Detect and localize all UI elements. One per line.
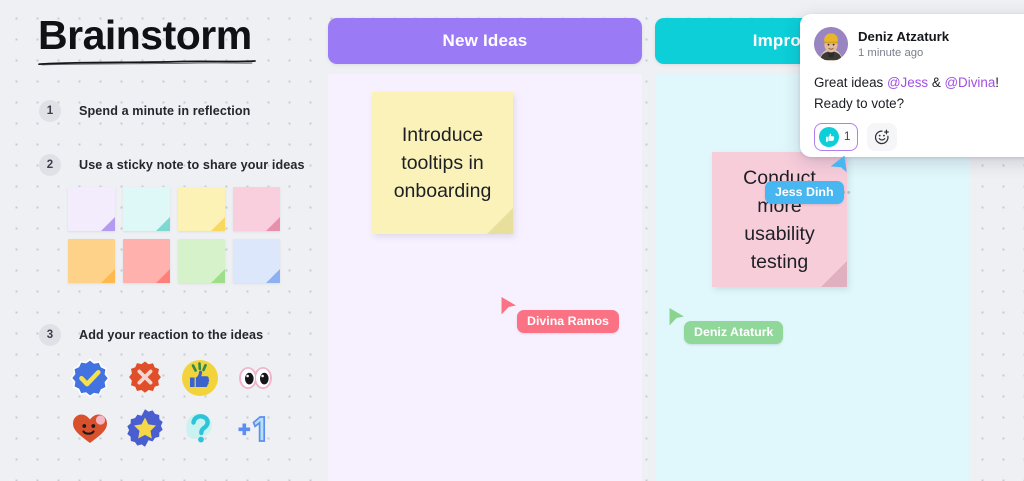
- palette-swatch-orange[interactable]: [68, 239, 123, 291]
- cursor-label: Deniz Ataturk: [684, 321, 783, 344]
- step-number: 1: [39, 100, 61, 122]
- step-label: Use a sticky note to share your ideas: [79, 158, 305, 172]
- sticky-note-text: Introduce tooltips in onboarding: [372, 121, 513, 205]
- heart-face-icon[interactable]: [68, 406, 112, 450]
- thumbs-up-icon[interactable]: [178, 356, 222, 400]
- mention-divina[interactable]: @Divina: [944, 75, 995, 90]
- comment-text-lead: Great ideas: [814, 75, 887, 90]
- reaction-eyes[interactable]: [233, 353, 288, 403]
- cursor-label: Jess Dinh: [765, 181, 844, 204]
- cursor-label: Divina Ramos: [517, 310, 619, 333]
- reaction-star-badge[interactable]: [123, 403, 178, 453]
- cross-badge-icon[interactable]: [123, 356, 167, 400]
- plus-one-icon[interactable]: [233, 406, 277, 450]
- comment-timestamp: 1 minute ago: [858, 47, 949, 59]
- comment-author-block: Deniz Atzaturk 1 minute ago: [858, 29, 949, 59]
- star-badge-icon[interactable]: [123, 406, 167, 450]
- whiteboard-canvas[interactable]: Brainstorm 1 Spend a minute in reflectio…: [0, 0, 1024, 481]
- palette-swatch-salmon[interactable]: [123, 239, 178, 291]
- reaction-question[interactable]: [178, 403, 233, 453]
- step-number: 2: [39, 154, 61, 176]
- page-title: Brainstorm: [38, 12, 252, 59]
- avatar: [814, 27, 848, 61]
- comment-reactions[interactable]: 1: [814, 123, 1024, 151]
- add-reaction-button[interactable]: [867, 123, 897, 151]
- palette-swatch-mint[interactable]: [123, 187, 178, 239]
- mention-jess[interactable]: @Jess: [887, 75, 928, 90]
- thumbs-up-reaction-button[interactable]: 1: [814, 123, 858, 151]
- palette-swatch-pink[interactable]: [233, 187, 288, 239]
- eyes-icon[interactable]: [233, 356, 277, 400]
- step-number: 3: [39, 324, 61, 346]
- step-item-3: 3 Add your reaction to the ideas: [39, 324, 263, 346]
- sticky-note[interactable]: Conduct more usability testing: [712, 152, 847, 287]
- instructions-panel: Brainstorm 1 Spend a minute in reflectio…: [0, 0, 328, 481]
- step-item-2: 2 Use a sticky note to share your ideas: [39, 154, 305, 176]
- reaction-plus-one[interactable]: [233, 403, 288, 453]
- reaction-check-badge[interactable]: [68, 353, 123, 403]
- check-badge-icon[interactable]: [68, 356, 112, 400]
- comment-body: Great ideas @Jess & @Divina! Ready to vo…: [814, 72, 1024, 114]
- step-label: Spend a minute in reflection: [79, 104, 250, 118]
- reaction-cross-badge[interactable]: [123, 353, 178, 403]
- emoji-plus-icon: [874, 129, 890, 145]
- step-label: Add your reaction to the ideas: [79, 328, 263, 342]
- comment-header: Deniz Atzaturk 1 minute ago: [814, 27, 1024, 61]
- comment-text-mid: &: [928, 75, 944, 90]
- thumbs-up-icon: [819, 127, 839, 147]
- palette-swatch-blue[interactable]: [233, 239, 288, 291]
- reaction-sticker-palette[interactable]: [68, 353, 288, 453]
- column-new-ideas[interactable]: New Ideas: [328, 18, 642, 64]
- comment-author: Deniz Atzaturk: [858, 29, 949, 44]
- title-underline-decoration: [38, 59, 256, 66]
- reaction-count: 1: [844, 131, 850, 143]
- note-fold-corner: [487, 208, 513, 234]
- sticky-note[interactable]: Introduce tooltips in onboarding: [372, 92, 513, 234]
- palette-swatch-yellow[interactable]: [178, 187, 233, 239]
- note-fold-corner: [821, 261, 847, 287]
- cursor-arrow-icon: [500, 296, 518, 316]
- sticky-note-palette[interactable]: [68, 187, 288, 291]
- palette-swatch-lavender[interactable]: [68, 187, 123, 239]
- reaction-thumbs-up[interactable]: [178, 353, 233, 403]
- reaction-heart-face[interactable]: [68, 403, 123, 453]
- step-item-1: 1 Spend a minute in reflection: [39, 100, 250, 122]
- comment-popup[interactable]: Deniz Atzaturk 1 minute ago Great ideas …: [800, 14, 1024, 157]
- column-header[interactable]: New Ideas: [328, 18, 642, 64]
- palette-swatch-green[interactable]: [178, 239, 233, 291]
- cursor-arrow-icon: [668, 307, 686, 327]
- question-mark-icon[interactable]: [178, 406, 222, 450]
